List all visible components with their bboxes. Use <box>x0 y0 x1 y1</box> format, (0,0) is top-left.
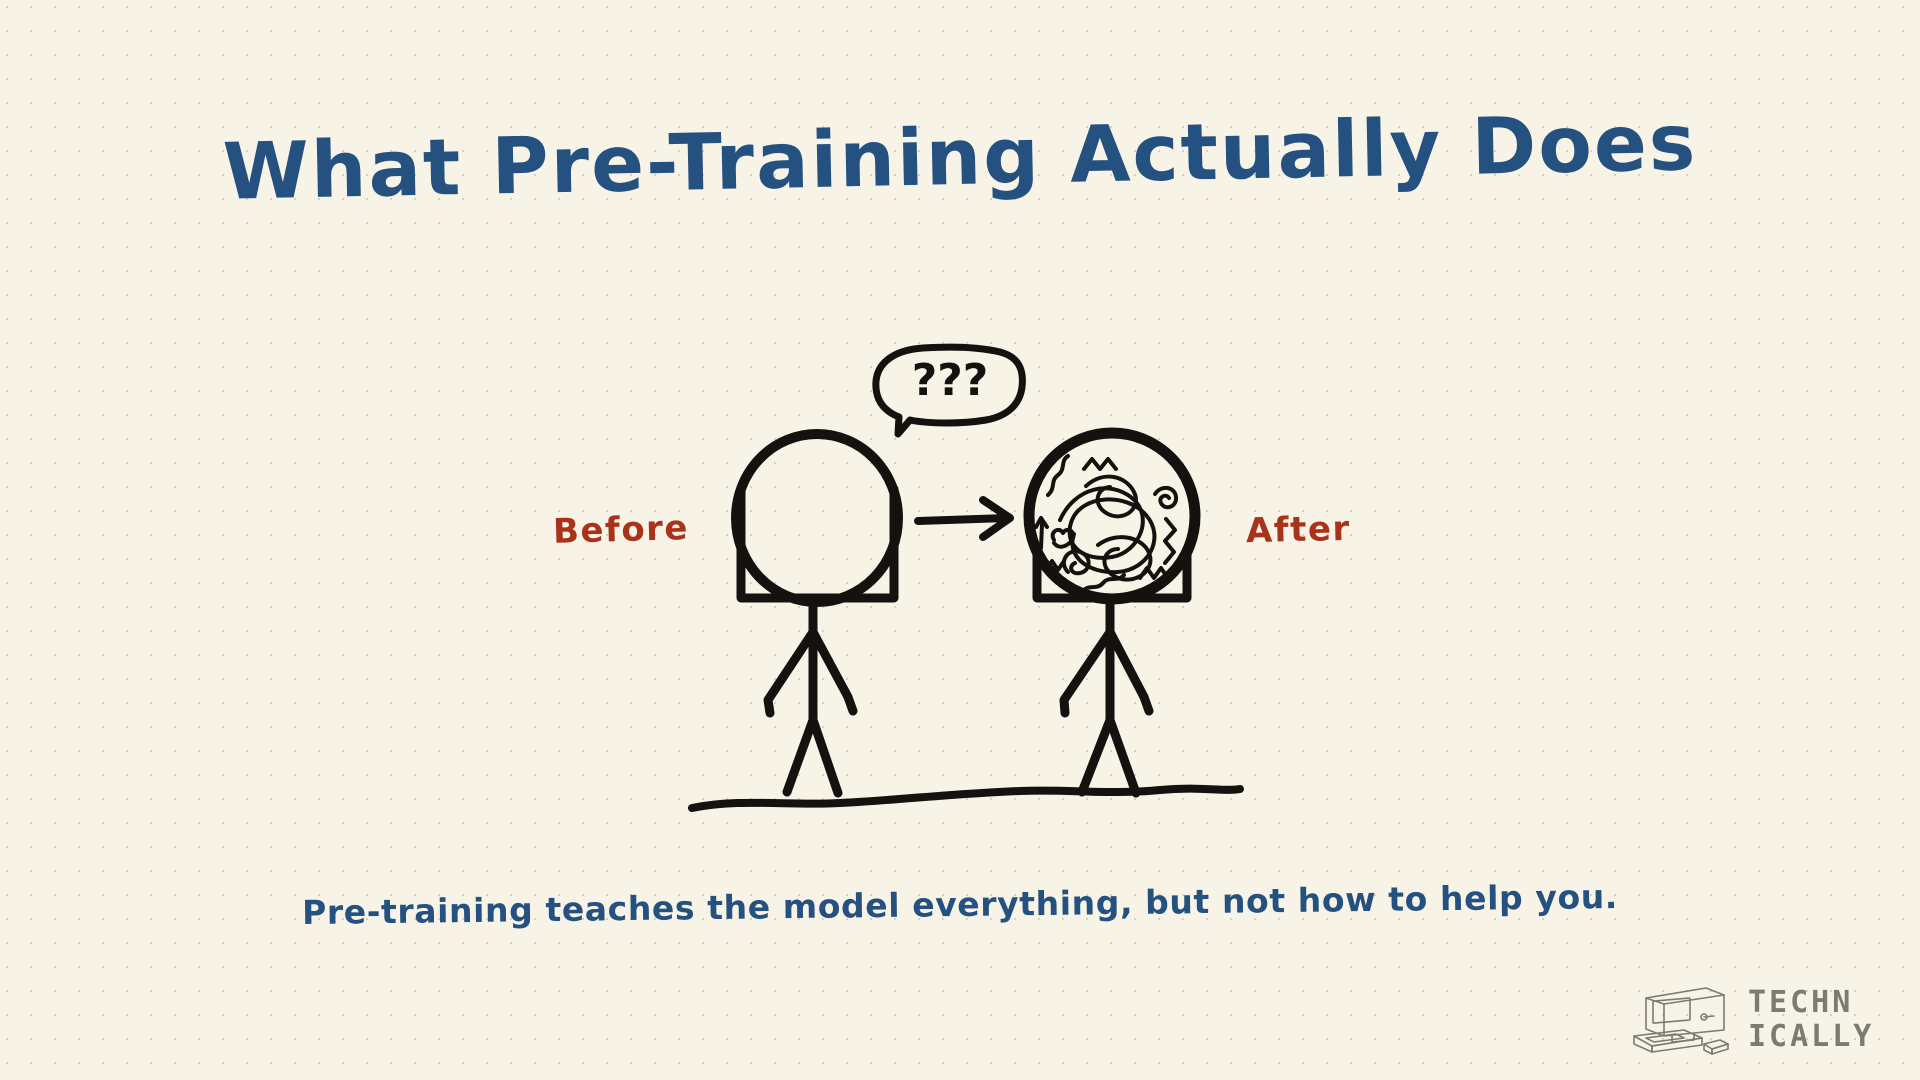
slide-stage: What Pre-Training Actually Does ??? <box>0 0 1920 1080</box>
after-right-leg <box>1110 720 1136 793</box>
after-head-knowledge-scribbles <box>1036 456 1176 592</box>
caption-text: Pre-training teaches the model everythin… <box>0 873 1920 935</box>
ground-line <box>692 789 1240 808</box>
before-head-box <box>741 489 894 598</box>
thought-bubble: ??? <box>876 347 1023 434</box>
logo-line-2: ICALLY <box>1748 1022 1874 1052</box>
logo-wordmark: TECHN ICALLY <box>1748 988 1874 1052</box>
transition-arrow <box>918 500 1010 537</box>
after-head-circle <box>1029 433 1195 599</box>
before-head-circle <box>736 434 898 602</box>
after-right-arm <box>1110 632 1149 711</box>
label-before: Before <box>552 508 689 552</box>
before-left-arm <box>768 632 813 713</box>
brand-logo: TECHN ICALLY <box>1632 968 1900 1072</box>
after-left-leg <box>1082 720 1110 792</box>
arrow-shaft <box>918 518 1007 521</box>
label-after: After <box>1246 509 1352 551</box>
after-left-arm <box>1064 632 1110 713</box>
logo-line-1: TECHN <box>1748 988 1874 1018</box>
before-left-leg <box>787 720 813 792</box>
before-right-leg <box>813 720 838 793</box>
thought-bubble-text: ??? <box>912 355 989 406</box>
thought-bubble-outline <box>876 347 1023 434</box>
retro-desktop-computer-icon <box>1632 978 1736 1062</box>
after-stick-figure <box>1029 433 1195 793</box>
before-stick-figure <box>736 434 898 793</box>
before-right-arm <box>813 632 853 711</box>
page-title: What Pre-Training Actually Does <box>0 99 1920 219</box>
after-head-box <box>1037 489 1187 598</box>
arrow-head <box>983 500 1010 537</box>
